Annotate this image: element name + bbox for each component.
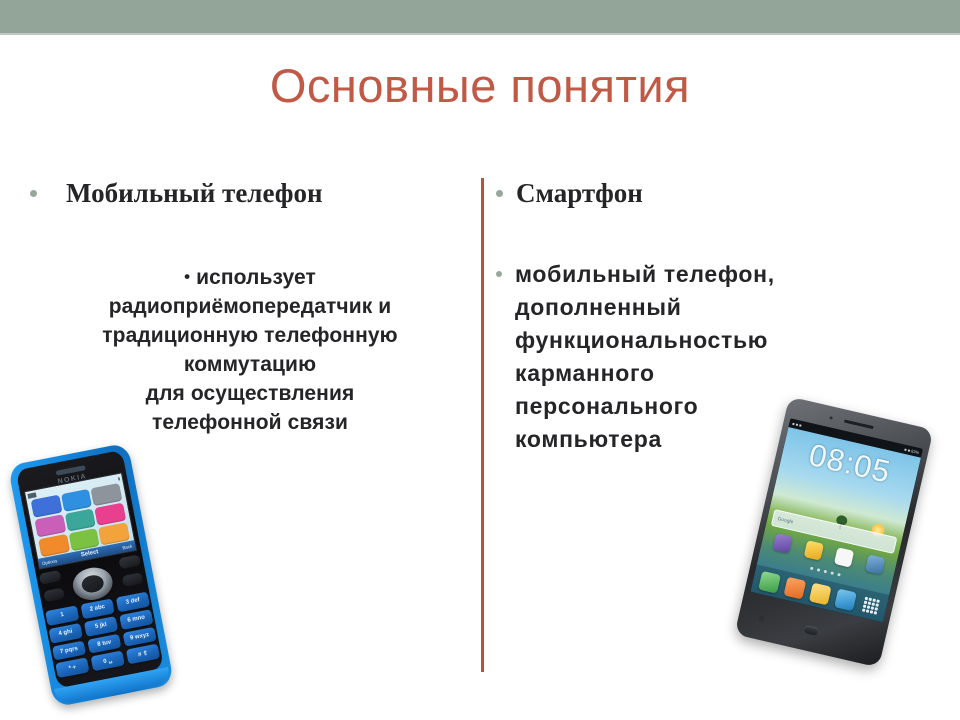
left-heading-row: Мобильный телефон bbox=[30, 176, 470, 210]
bullet-dot-icon bbox=[30, 190, 37, 197]
slide-top-band-shadow bbox=[0, 33, 960, 35]
softkey-right-label: Back bbox=[122, 543, 133, 550]
battery-icon: ▮ bbox=[117, 475, 120, 480]
right-body-line-2: дополненный bbox=[515, 291, 915, 324]
page-dot bbox=[809, 567, 813, 571]
softkey-left-label: Options bbox=[41, 558, 57, 566]
app-icon-settings[interactable] bbox=[865, 554, 885, 574]
left-body-line-6: телефонной связи bbox=[30, 408, 470, 437]
status-notification-icons: ■ ■ ■ bbox=[792, 421, 802, 428]
page-title: Основные понятия bbox=[0, 56, 960, 116]
right-body-line-1: мобильный телефон, bbox=[515, 258, 915, 291]
bullet-dot-icon bbox=[496, 190, 503, 197]
right-body-line-4: карманного bbox=[515, 357, 915, 390]
page-dot bbox=[823, 570, 827, 574]
left-column-heading: Мобильный телефон bbox=[66, 176, 323, 210]
dock-icon-phone[interactable] bbox=[758, 570, 781, 593]
dock-icon-contacts[interactable] bbox=[783, 576, 806, 599]
column-divider bbox=[481, 178, 484, 672]
right-column-heading: Смартфон bbox=[516, 176, 643, 210]
left-body-line-3: традиционную телефонную bbox=[30, 321, 470, 350]
page-dot bbox=[830, 571, 834, 575]
keypad-key: 5 jkl bbox=[84, 616, 118, 637]
left-body-line-2: радиоприёмопередатчик и bbox=[30, 292, 470, 321]
dock-icon-apps[interactable] bbox=[859, 594, 882, 617]
page-dot bbox=[837, 573, 841, 577]
right-heading-row: Смартфон bbox=[496, 176, 926, 210]
left-body-line-5: для осуществления bbox=[30, 379, 470, 408]
menu-button[interactable] bbox=[758, 615, 765, 622]
search-widget-label: Google bbox=[777, 516, 794, 525]
app-icon-gallery[interactable] bbox=[803, 540, 823, 560]
app-icon-camera[interactable] bbox=[773, 533, 793, 553]
back-button[interactable] bbox=[857, 638, 864, 645]
keypad-key: 4 ghi bbox=[48, 623, 82, 644]
left-body-line-4: коммутацию bbox=[30, 350, 470, 379]
inline-bullet-icon: • bbox=[184, 267, 190, 286]
feature-phone-photo: NOKIA ███ ▮ Options Select Back bbox=[8, 443, 175, 708]
left-body-line-1: • использует bbox=[30, 262, 470, 292]
page-dot bbox=[816, 568, 820, 572]
home-button[interactable] bbox=[804, 625, 819, 636]
dock-icon-messaging[interactable] bbox=[808, 582, 831, 605]
slide-top-band bbox=[0, 0, 960, 33]
dock-icon-browser[interactable] bbox=[834, 588, 857, 611]
left-column-body: • использует радиоприёмопередатчик и тра… bbox=[30, 262, 470, 437]
status-battery-icons: ■ ■ 83% bbox=[904, 447, 920, 455]
keypad-key: 6 mno bbox=[119, 609, 153, 630]
left-column: Мобильный телефон • использует радиоприё… bbox=[30, 176, 470, 437]
right-body-line-3: функциональностью bbox=[515, 324, 915, 357]
bullet-dot-icon bbox=[496, 271, 502, 277]
presentation-slide: Основные понятия Мобильный телефон • исп… bbox=[0, 0, 960, 720]
app-icon-calendar[interactable] bbox=[834, 547, 854, 567]
softkey-center-label: Select bbox=[80, 549, 99, 558]
